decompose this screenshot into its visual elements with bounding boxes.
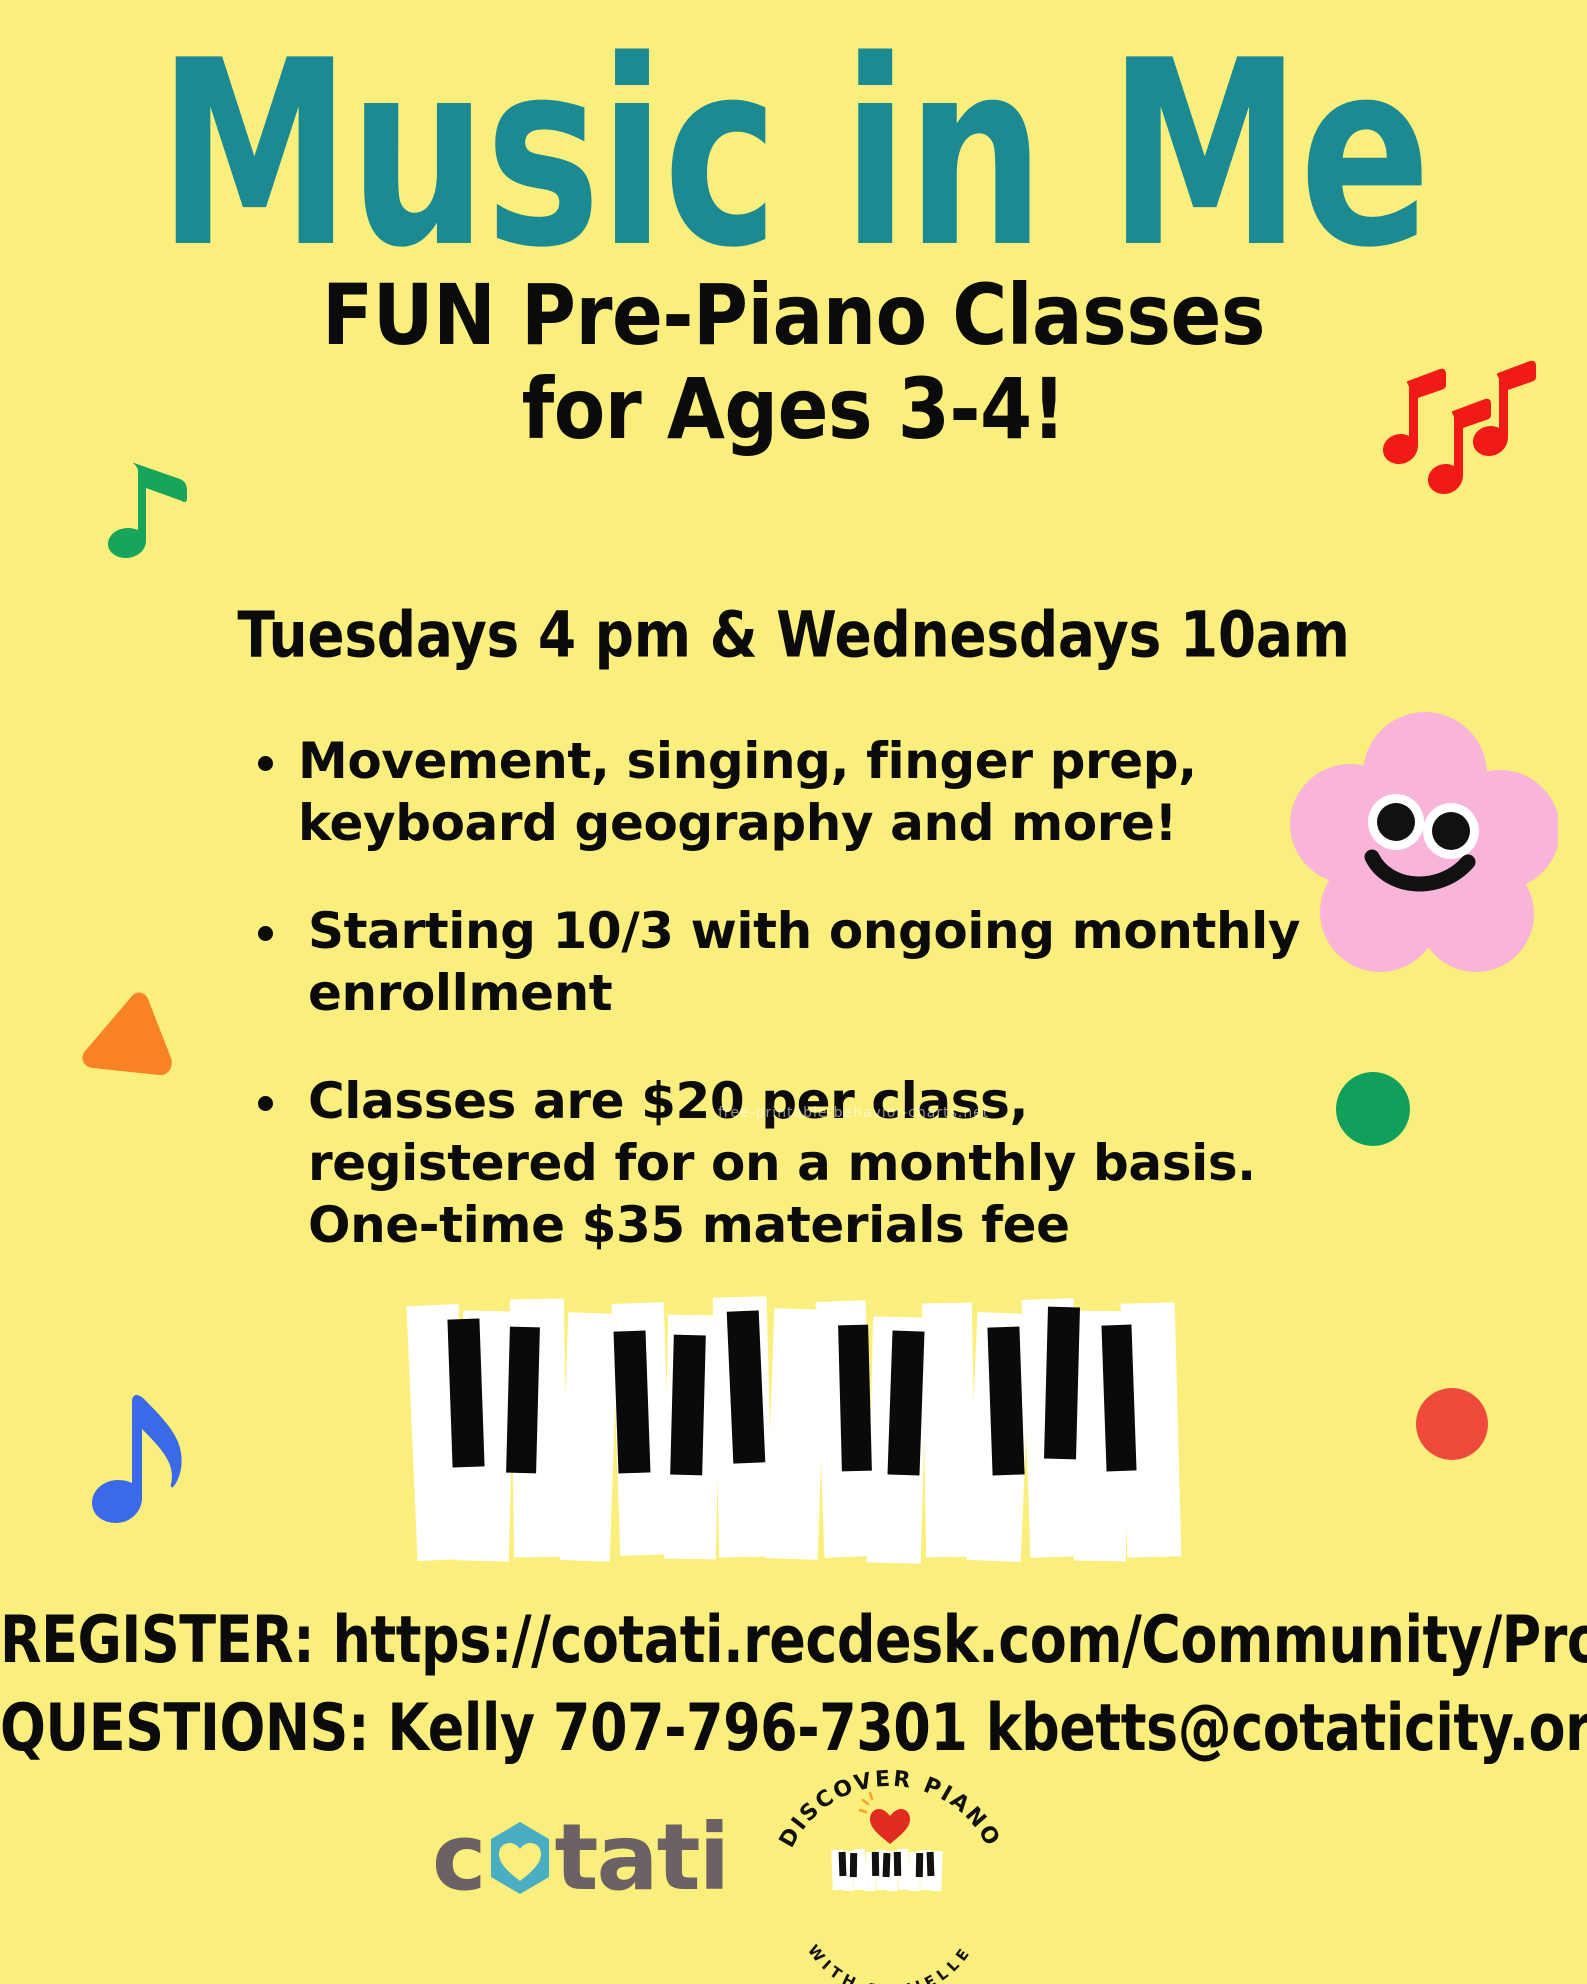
details-list: Movement, singing, finger prep, keyboard… [250,730,1320,1302]
cotati-heart-hexagon-icon [487,1821,553,1895]
music-note-green-icon [88,455,200,567]
flower-smiley-icon [1288,712,1558,984]
list-item: Classes are $20 per class, registered fo… [250,1070,1320,1256]
subtitle-line-1: FUN Pre-Piano Classes [322,266,1265,365]
cotati-logo: c tati [432,1812,728,1904]
flower-eye-right-icon [1423,803,1479,859]
schedule-line: Tuesdays 4 pm & Wednesdays 10am [0,598,1587,672]
triangle-orange-icon [72,988,177,1088]
piano-keys-icon [412,1297,1182,1577]
music-note-blue-icon [78,1390,196,1534]
watermark-text: free-printable-behavior-charts.net [718,1105,989,1121]
list-item: Starting 10/3 with ongoing monthly enrol… [250,900,1320,1024]
subtitle-line-2: for Ages 3-4! [0,362,1587,456]
mini-piano-keys-icon [831,1849,942,1891]
discover-piano-badge-icon: DISCOVER PIANO WITH DANIELLE [760,1768,1020,1984]
circle-green-icon [1336,1072,1410,1146]
list-item: Movement, singing, finger prep, keyboard… [250,730,1320,854]
circle-red-icon [1416,1388,1488,1460]
flower-eye-left-icon [1368,794,1424,850]
cotati-logo-text-after: tati [555,1812,729,1904]
page-title: Music in Me [24,28,1563,284]
questions-line[interactable]: QUESTIONS: Kelly 707-796-7301 kbetts@cot… [0,1690,1587,1766]
poster-flyer: Music in Me FUN Pre-Piano Classes for Ag… [0,0,1587,1984]
cotati-logo-text-before: c [432,1812,485,1904]
heart-icon [860,1793,910,1844]
discover-piano-bottom-text: WITH DANIELLE [804,1941,976,1984]
register-line[interactable]: REGISTER: https://cotati.recdesk.com/Com… [0,1602,1587,1678]
music-notes-red-icon [1378,355,1548,509]
subtitle: FUN Pre-Piano Classes for Ages 3-4! [0,268,1587,456]
